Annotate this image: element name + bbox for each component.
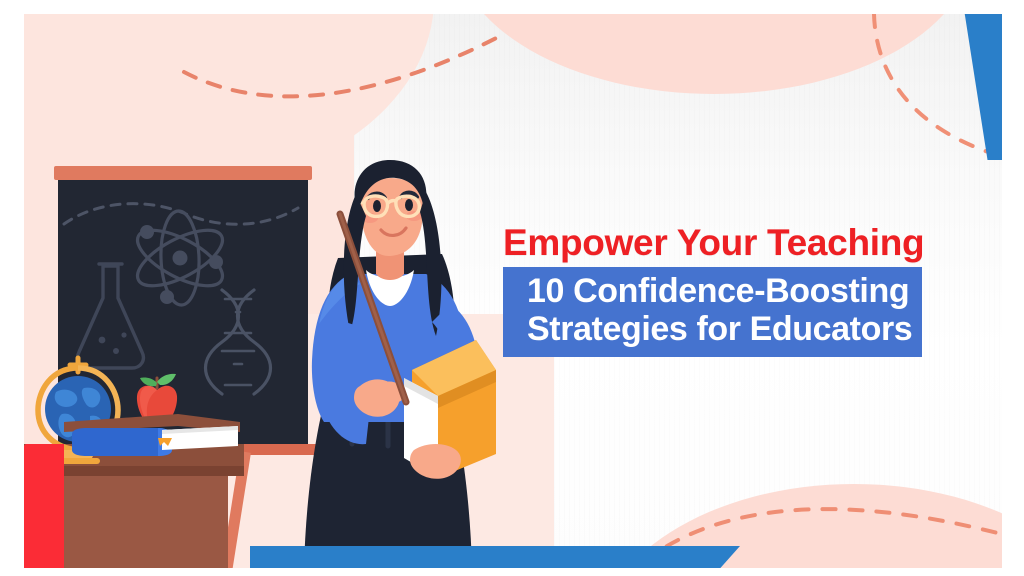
frame-edge-left — [0, 0, 24, 576]
subheadline-line-2: Strategies for Educators — [527, 310, 912, 348]
subheadline-box: 10 Confidence-Boosting Strategies for Ed… — [503, 267, 922, 357]
dashed-arc-top-left-icon — [174, 24, 514, 94]
bottom-accent-band — [250, 546, 740, 568]
dna-helix-diagram-icon — [206, 290, 271, 394]
frame-edge-right — [1002, 0, 1024, 576]
atom-diagram-icon — [130, 210, 231, 305]
headline-block: Empower Your Teaching 10 Confidence-Boos… — [479, 224, 979, 357]
subheadline-line-1: 10 Confidence-Boosting — [527, 272, 912, 310]
banner-graphic: Empower Your Teaching 10 Confidence-Boos… — [0, 0, 1024, 576]
frame-edge-bottom — [0, 568, 1024, 576]
frame-edge-top — [0, 0, 1024, 14]
book-stack — [62, 412, 242, 464]
teacher-figure — [264, 154, 514, 568]
headline-text: Empower Your Teaching — [503, 224, 979, 261]
